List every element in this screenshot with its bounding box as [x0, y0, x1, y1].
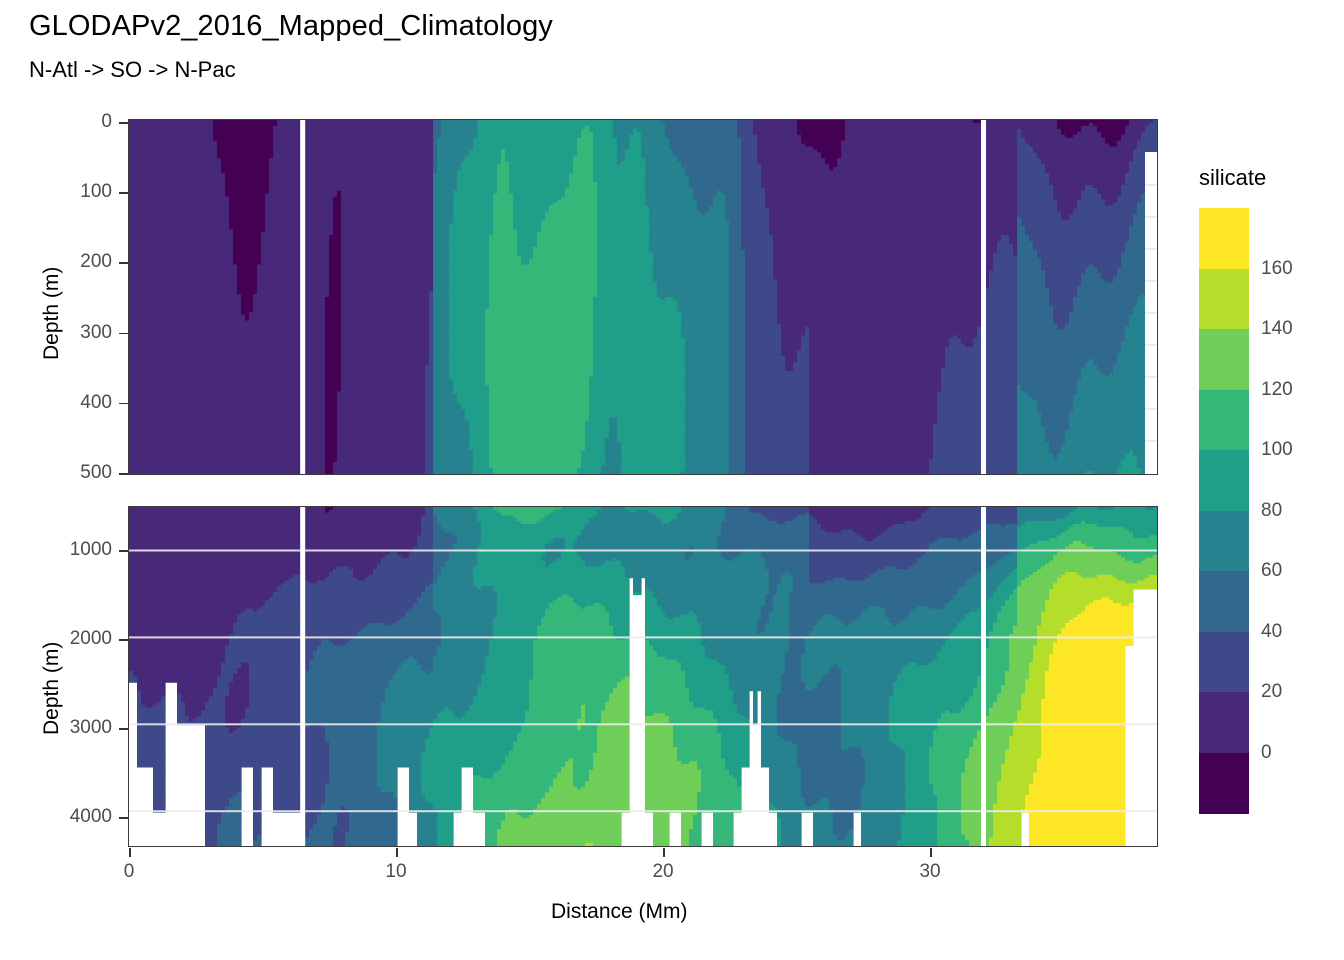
lower-depth-panel: [128, 506, 1158, 847]
lower-y-tick-4000: 4000: [0, 806, 112, 828]
legend-label-140: 140: [1261, 318, 1293, 340]
legend-swatch-2: [1199, 329, 1249, 390]
x-tick-mark: [930, 848, 932, 857]
section-break-line: [300, 120, 305, 474]
y-tick-mark: [119, 728, 128, 730]
upper-y-tick-400: 400: [0, 392, 112, 414]
lower-y-tick-3000: 3000: [0, 717, 112, 739]
legend-swatch-9: [1199, 753, 1249, 814]
y-tick-mark: [119, 122, 128, 124]
legend-label-40: 40: [1261, 621, 1282, 643]
upper-y-tick-100: 100: [0, 181, 112, 203]
legend-label-20: 20: [1261, 681, 1282, 703]
upper-right-gridline: [1145, 312, 1157, 314]
legend-label-100: 100: [1261, 439, 1293, 461]
upper-right-gridline: [1145, 408, 1157, 410]
x-tick-0: 0: [89, 861, 169, 883]
upper-y-tick-200: 200: [0, 251, 112, 273]
x-tick-mark: [129, 848, 131, 857]
upper-y-tick-0: 0: [0, 111, 112, 133]
upper-y-tick-500: 500: [0, 462, 112, 484]
upper-right-gridline: [1145, 344, 1157, 346]
gridline-1000: [129, 550, 1157, 552]
legend-swatch-6: [1199, 571, 1249, 632]
x-tick-20: 20: [623, 861, 703, 883]
upper-right-gridline: [1145, 216, 1157, 218]
y-tick-mark: [119, 262, 128, 264]
gridline-4000: [129, 810, 1157, 812]
upper-right-gridline: [1145, 376, 1157, 378]
upper-right-gridline: [1145, 440, 1157, 442]
legend-swatch-4: [1199, 450, 1249, 511]
y-tick-mark: [119, 817, 128, 819]
page-subtitle: N-Atl -> SO -> N-Pac: [29, 57, 236, 83]
legend-swatch-5: [1199, 511, 1249, 572]
y-tick-mark: [119, 473, 128, 475]
gridline-3000: [129, 723, 1157, 725]
y-tick-mark: [119, 333, 128, 335]
y-tick-mark: [119, 192, 128, 194]
legend-title: silicate: [1199, 165, 1266, 191]
y-tick-mark: [119, 403, 128, 405]
section-break-line: [981, 507, 986, 846]
y-tick-mark: [119, 550, 128, 552]
legend-colorbar: [1199, 208, 1249, 813]
legend-label-0: 0: [1261, 742, 1272, 764]
legend-label-120: 120: [1261, 379, 1293, 401]
upper-y-axis-title: Depth (m): [40, 267, 64, 360]
page-title: GLODAPv2_2016_Mapped_Climatology: [29, 10, 553, 43]
upper-right-gridline: [1145, 280, 1157, 282]
section-break-line: [300, 507, 305, 846]
section-break-line: [981, 120, 986, 474]
upper-right-gridline: [1145, 248, 1157, 250]
legend-label-160: 160: [1261, 258, 1293, 280]
upper-y-tick-300: 300: [0, 322, 112, 344]
upper-right-gridline: [1145, 184, 1157, 186]
legend-swatch-8: [1199, 692, 1249, 753]
legend-label-80: 80: [1261, 500, 1282, 522]
x-tick-30: 30: [890, 861, 970, 883]
lower-y-tick-2000: 2000: [0, 628, 112, 650]
x-tick-mark: [396, 848, 398, 857]
lower-y-tick-1000: 1000: [0, 539, 112, 561]
legend-label-60: 60: [1261, 560, 1282, 582]
y-tick-mark: [119, 639, 128, 641]
x-axis-title: Distance (Mm): [551, 900, 688, 924]
upper-depth-panel: [128, 119, 1158, 475]
legend-swatch-0: [1199, 208, 1249, 269]
x-tick-10: 10: [356, 861, 436, 883]
legend-swatch-7: [1199, 632, 1249, 693]
legend-swatch-3: [1199, 390, 1249, 451]
gridline-2000: [129, 636, 1157, 638]
legend-swatch-1: [1199, 269, 1249, 330]
plot-root: GLODAPv2_2016_Mapped_Climatology N-Atl -…: [0, 0, 1344, 960]
x-tick-mark: [663, 848, 665, 857]
